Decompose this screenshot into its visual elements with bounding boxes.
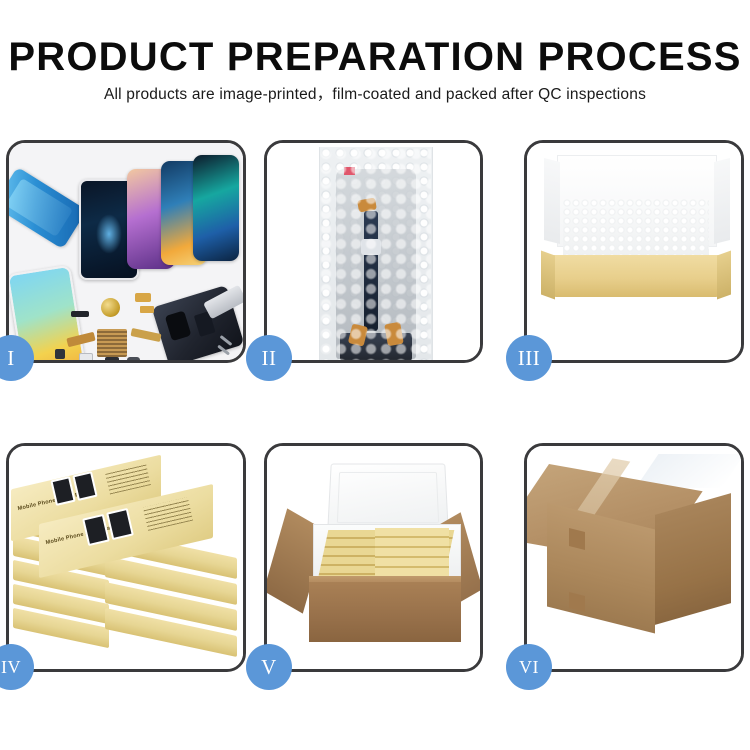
- button-part: [55, 349, 65, 359]
- process-step-panel-6: VI: [524, 443, 744, 672]
- step-2-image: [267, 143, 480, 360]
- step-5-image: [267, 446, 480, 669]
- sim-tray-part: [79, 353, 93, 360]
- step-4-image: Mobile Phone Spare Parts Mobile Phone Sp…: [9, 446, 243, 669]
- flex-cable-part: [135, 293, 151, 302]
- scene-spare-parts: [9, 143, 243, 360]
- step-numeral-badge-6: VI: [506, 644, 552, 690]
- circuit-board-part: [97, 329, 127, 357]
- camera-module-part: [105, 357, 119, 360]
- step-3-image: [527, 143, 741, 360]
- bubble-wrap-bag: [319, 147, 433, 360]
- flex-cable: [364, 211, 378, 331]
- process-step-panel-1: I: [6, 140, 246, 363]
- gold-boxes-stack-right: [375, 528, 449, 582]
- teal-gradient-phone: [193, 155, 239, 261]
- step-6-image: [527, 446, 741, 669]
- red-label-tab: [344, 167, 355, 175]
- step-1-image: [9, 143, 243, 360]
- scene-sealed-carton: [527, 446, 741, 669]
- scene-stacked-boxes: Mobile Phone Spare Parts Mobile Phone Sp…: [9, 446, 243, 669]
- step-numeral-badge-3: III: [506, 335, 552, 381]
- scene-carton-with-foam: [267, 446, 480, 669]
- process-step-panel-2: II: [264, 140, 483, 363]
- foam-lid: [327, 464, 449, 533]
- gold-box-front: [553, 255, 719, 297]
- vibrator-motor-part: [101, 298, 120, 317]
- carton-right-panel: [655, 493, 731, 625]
- process-step-panel-4: Mobile Phone Spare Parts Mobile Phone Sp…: [6, 443, 246, 672]
- step-numeral-badge-2: II: [246, 335, 292, 381]
- connector-part: [127, 357, 140, 360]
- process-step-panel-3: III: [524, 140, 744, 363]
- step-numeral-badge-5: V: [246, 644, 292, 690]
- process-step-grid: I II: [0, 0, 750, 750]
- carton-handle-tab-upper: [569, 528, 585, 550]
- process-step-panel-5: V: [264, 443, 483, 672]
- scene-bubble-wrapped-screen: [267, 143, 480, 360]
- earpiece-speaker-part: [71, 311, 89, 317]
- scene-foam-lined-box: [527, 143, 741, 360]
- foam-sheet: [563, 199, 709, 261]
- carton-front-panel: [309, 582, 461, 642]
